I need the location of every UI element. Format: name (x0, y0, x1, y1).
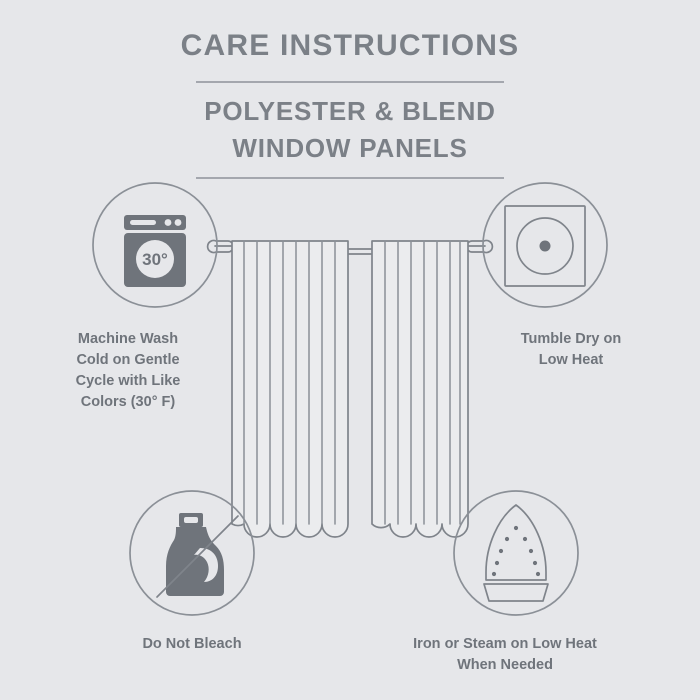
badge-ring-iron (454, 491, 578, 615)
caption-machine-wash-line-1: Machine Wash (78, 331, 178, 347)
steam-iron-icon (484, 505, 548, 601)
washing-machine-icon: 30° (124, 215, 186, 287)
caption-tumble-dry-line-2: Low Heat (539, 352, 604, 368)
instruction-machine-wash: 30° Machine Wash Cold on Gentle Cycle wi… (76, 183, 217, 410)
curtain-panel-left (232, 241, 348, 537)
caption-tumble-dry-line-1: Tumble Dry on (521, 331, 621, 347)
caption-iron-line-2: When Needed (457, 657, 553, 673)
caption-machine-wash-line-2: Cold on Gentle (76, 352, 179, 368)
tumble-dry-low-icon (505, 206, 585, 286)
wash-temperature-label: 30° (142, 250, 168, 269)
care-instructions-card: CARE INSTRUCTIONS POLYESTER & BLEND WIND… (0, 0, 700, 700)
subtitle-line-1: POLYESTER & BLEND (204, 96, 495, 126)
illustration-stage: CARE INSTRUCTIONS POLYESTER & BLEND WIND… (0, 0, 700, 700)
no-bleach-icon (157, 513, 238, 597)
page-title: CARE INSTRUCTIONS (181, 29, 520, 62)
caption-iron-line-1: Iron or Steam on Low Heat (413, 636, 597, 652)
caption-machine-wash-line-4: Colors (30° F) (81, 394, 176, 410)
caption-machine-wash-line-3: Cycle with Like (76, 373, 181, 389)
curtain-panel-right (372, 241, 468, 537)
caption-do-not-bleach-line-1: Do Not Bleach (142, 636, 241, 652)
instruction-tumble-dry: Tumble Dry on Low Heat (483, 183, 621, 368)
subtitle-line-2: WINDOW PANELS (232, 133, 467, 163)
curtain-illustration (208, 241, 493, 538)
